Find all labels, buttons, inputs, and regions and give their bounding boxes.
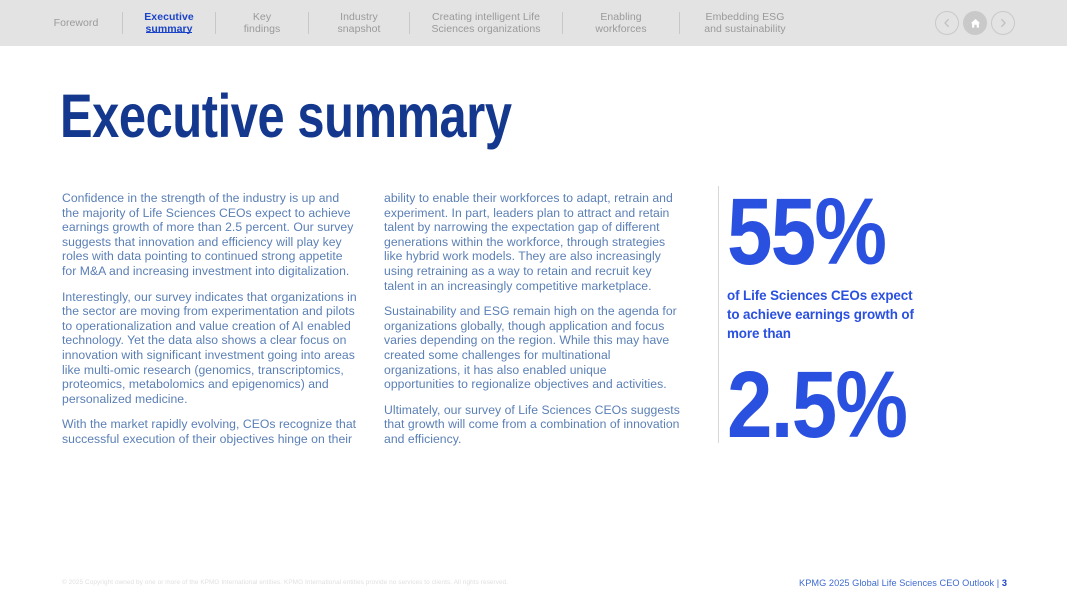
paragraph: Confidence in the strength of the indust…	[62, 191, 358, 279]
chevron-left-icon	[941, 17, 953, 29]
nav-item-label: Enabling workforces	[595, 11, 646, 36]
nav-item-label: Industry snapshot	[337, 11, 380, 36]
top-navigation-bar: Foreword Executive summary Key findings …	[0, 0, 1067, 46]
paragraph: Interestingly, our survey indicates that…	[62, 290, 358, 407]
stat-primary-value: 55%	[727, 184, 994, 280]
nav-item-embedding-esg-and-sustainability[interactable]: Embedding ESG and sustainability	[680, 0, 810, 46]
stat-secondary-value: 2.5%	[727, 357, 994, 453]
body-column-right: ability to enable their workforces to ad…	[384, 191, 680, 447]
footer-page-number: 3	[1002, 578, 1007, 588]
paragraph: ability to enable their workforces to ad…	[384, 191, 680, 293]
nav-item-creating-intelligent-life-sciences-organizations[interactable]: Creating intelligent Life Sciences organ…	[410, 0, 562, 46]
footer-copyright: © 2025 Copyright owned by one or more of…	[62, 578, 508, 587]
stat-panel-divider	[718, 186, 719, 443]
paragraph: Sustainability and ESG remain high on th…	[384, 304, 680, 392]
previous-page-button[interactable]	[935, 11, 959, 35]
statistic-panel: 55% of Life Sciences CEOs expect to achi…	[727, 184, 1037, 453]
navigation-button-group	[935, 11, 1015, 35]
nav-item-key-findings[interactable]: Key findings	[216, 0, 308, 46]
nav-item-foreword[interactable]: Foreword	[30, 0, 122, 46]
stat-caption: of Life Sciences CEOs expect to achieve …	[727, 286, 927, 343]
home-button[interactable]	[963, 11, 987, 35]
active-tab-underline	[146, 32, 192, 33]
nav-item-label: Creating intelligent Life Sciences organ…	[431, 11, 540, 36]
chevron-right-icon	[997, 17, 1009, 29]
footer-document-info: KPMG 2025 Global Life Sciences CEO Outlo…	[799, 577, 1007, 589]
nav-item-label: Key findings	[244, 11, 281, 36]
nav-item-executive-summary[interactable]: Executive summary	[123, 0, 215, 46]
paragraph: With the market rapidly evolving, CEOs r…	[62, 417, 358, 446]
footer-document-title: KPMG 2025 Global Life Sciences CEO Outlo…	[799, 578, 999, 588]
navigation-tab-list: Foreword Executive summary Key findings …	[30, 0, 810, 46]
page-title: Executive summary	[60, 84, 512, 148]
next-page-button[interactable]	[991, 11, 1015, 35]
nav-item-industry-snapshot[interactable]: Industry snapshot	[309, 0, 409, 46]
body-column-left: Confidence in the strength of the indust…	[62, 191, 358, 447]
paragraph: Ultimately, our survey of Life Sciences …	[384, 403, 680, 447]
nav-item-label: Foreword	[54, 17, 99, 30]
nav-item-label: Embedding ESG and sustainability	[704, 11, 785, 36]
home-icon	[969, 17, 982, 30]
nav-item-enabling-workforces[interactable]: Enabling workforces	[563, 0, 679, 46]
